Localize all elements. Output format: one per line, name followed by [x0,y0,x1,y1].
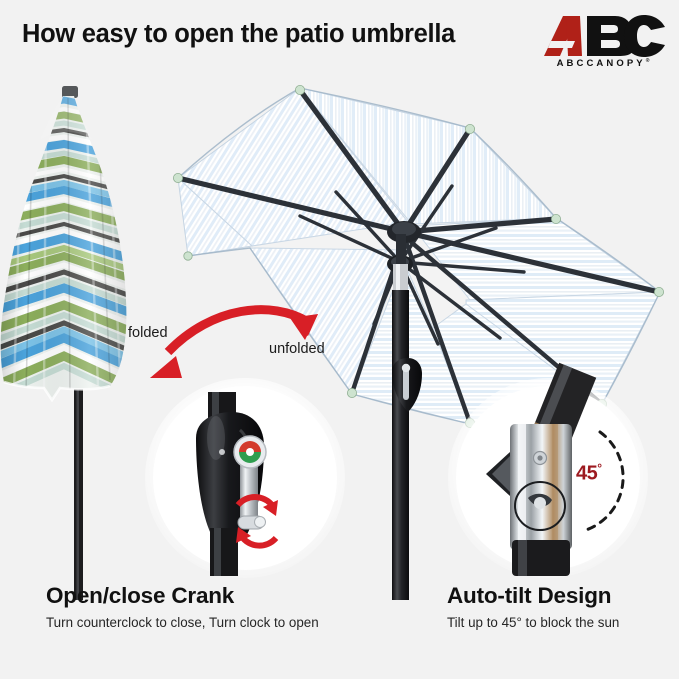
logo-subtitle: ABCCANOPY® [539,58,667,69]
tilt-caption-title: Auto-tilt Design [447,583,619,609]
label-folded: folded [128,325,168,341]
page-title: How easy to open the patio umbrella [22,20,455,49]
tilt-caption-subtitle: Tilt up to 45° to block the sun [447,615,619,630]
tilt-angle-badge: 45° [576,461,602,486]
pole-crank-housing [392,358,422,412]
crank-caption-subtitle: Turn counterclock to close, Turn clock t… [46,615,319,630]
tilt-detail-inset [448,363,648,578]
crank-caption-title: Open/close Crank [46,583,319,609]
label-unfolded: unfolded [269,341,325,357]
rotation-arrows-icon [236,497,278,546]
rib-tip-caps [173,85,663,427]
open-umbrella [173,85,663,600]
degree-symbol: ° [597,461,601,475]
umbrella-illustration [0,0,679,679]
abc-logo-icon [539,14,667,58]
tilt-angle-value: 45 [576,463,597,485]
crank-detail-inset [145,378,345,578]
brand-logo: ABCCANOPY® [539,14,667,76]
tilt-caption: Auto-tilt Design Tilt up to 45° to block… [447,583,619,630]
infographic-canvas: How easy to open the patio umbrella ABCC… [0,0,679,679]
crank-caption: Open/close Crank Turn counterclock to cl… [46,583,319,630]
